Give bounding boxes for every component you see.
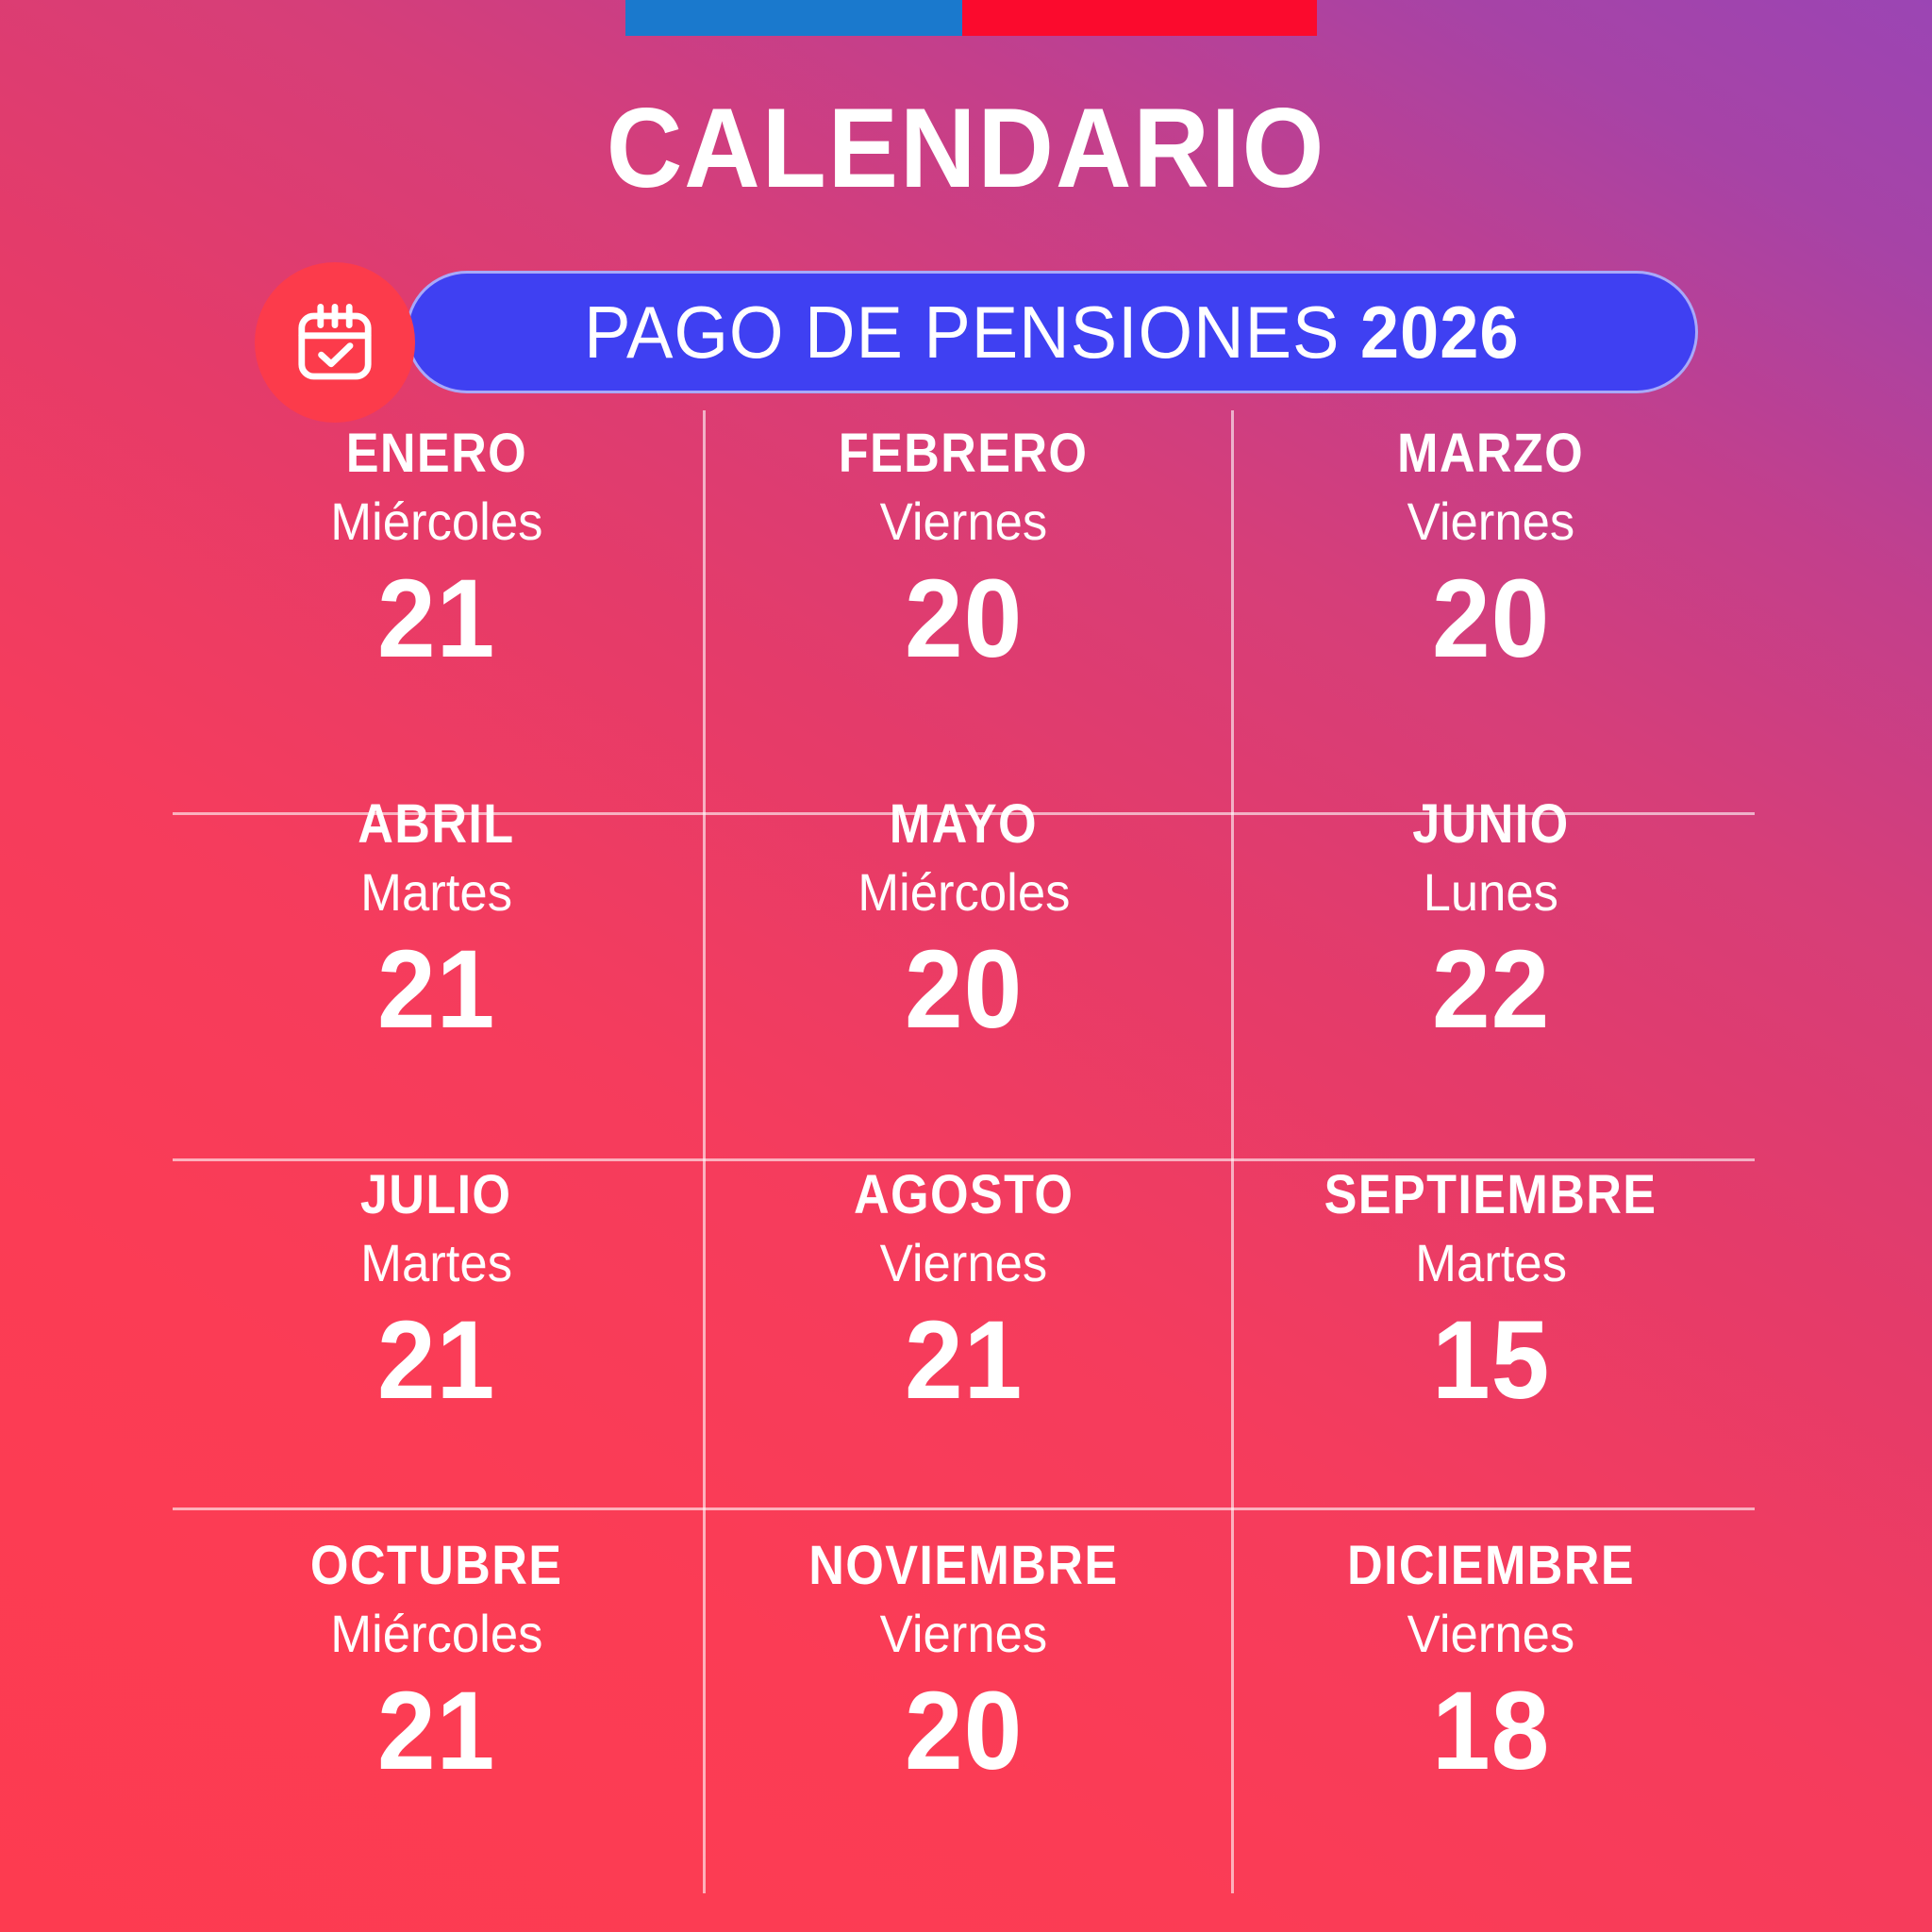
month-name: JUNIO xyxy=(1412,796,1569,854)
month-day-number: 21 xyxy=(377,934,495,1045)
month-name: OCTUBRE xyxy=(310,1538,563,1595)
month-day-number: 21 xyxy=(377,563,495,675)
calendar-infographic: CALENDARIO PAGO DE PENSIONES 2026 xyxy=(0,0,1932,1932)
month-day-number: 18 xyxy=(1432,1675,1550,1787)
subtitle-label: PAGO DE PENSIONES xyxy=(584,291,1340,374)
month-name: MAYO xyxy=(890,796,1038,854)
month-day-number: 20 xyxy=(905,563,1023,675)
months-grid: ENERO Miércoles 21 FEBRERO Viernes 20 MA… xyxy=(173,410,1755,1893)
month-name: ENERO xyxy=(345,425,526,483)
month-name: DICIEMBRE xyxy=(1347,1538,1635,1595)
month-name: NOVIEMBRE xyxy=(808,1538,1118,1595)
month-weekday: Miércoles xyxy=(330,494,542,550)
month-name: MARZO xyxy=(1397,425,1584,483)
month-day-number: 15 xyxy=(1432,1305,1550,1416)
month-weekday: Lunes xyxy=(1424,865,1558,921)
month-weekday: Miércoles xyxy=(330,1607,542,1662)
flag-top-bar xyxy=(625,0,1317,36)
month-name: SEPTIEMBRE xyxy=(1324,1167,1657,1224)
month-cell: MAYO Miércoles 20 xyxy=(700,781,1227,1152)
month-name: JULIO xyxy=(360,1167,511,1224)
month-weekday: Martes xyxy=(1415,1236,1567,1291)
subtitle-text: PAGO DE PENSIONES 2026 xyxy=(584,290,1519,375)
month-cell: ABRIL Martes 21 xyxy=(173,781,700,1152)
month-cell: SEPTIEMBRE Martes 15 xyxy=(1227,1152,1755,1523)
month-name: ABRIL xyxy=(358,796,514,854)
month-day-number: 21 xyxy=(377,1305,495,1416)
flag-red-segment xyxy=(962,0,1317,36)
month-day-number: 21 xyxy=(905,1305,1023,1416)
month-weekday: Martes xyxy=(360,865,512,921)
month-weekday: Martes xyxy=(360,1236,512,1291)
month-day-number: 20 xyxy=(905,934,1023,1045)
month-name: AGOSTO xyxy=(854,1167,1074,1224)
month-cell: MARZO Viernes 20 xyxy=(1227,410,1755,781)
month-cell: JUNIO Lunes 22 xyxy=(1227,781,1755,1152)
page-title: CALENDARIO xyxy=(68,92,1865,205)
calendar-check-icon xyxy=(290,297,380,388)
month-name: FEBRERO xyxy=(839,425,1089,483)
month-cell: DICIEMBRE Viernes 18 xyxy=(1227,1523,1755,1893)
calendar-check-icon-circle xyxy=(255,262,415,423)
month-day-number: 20 xyxy=(1432,563,1550,675)
month-day-number: 21 xyxy=(377,1675,495,1787)
month-day-number: 22 xyxy=(1432,934,1550,1045)
month-weekday: Viernes xyxy=(1407,1607,1575,1662)
flag-blue-segment xyxy=(625,0,962,36)
month-cell: JULIO Martes 21 xyxy=(173,1152,700,1523)
month-day-number: 20 xyxy=(905,1675,1023,1787)
month-cell: FEBRERO Viernes 20 xyxy=(700,410,1227,781)
month-weekday: Viernes xyxy=(1407,494,1575,550)
month-cell: ENERO Miércoles 21 xyxy=(173,410,700,781)
month-weekday: Viernes xyxy=(880,494,1048,550)
subtitle-year: 2026 xyxy=(1360,291,1520,374)
subtitle-pill: PAGO DE PENSIONES 2026 xyxy=(406,271,1698,393)
month-cell: AGOSTO Viernes 21 xyxy=(700,1152,1227,1523)
month-weekday: Viernes xyxy=(880,1236,1048,1291)
month-cell: NOVIEMBRE Viernes 20 xyxy=(700,1523,1227,1893)
month-weekday: Miércoles xyxy=(858,865,1070,921)
subtitle-badge: PAGO DE PENSIONES 2026 xyxy=(255,262,1707,413)
month-cell: OCTUBRE Miércoles 21 xyxy=(173,1523,700,1893)
month-weekday: Viernes xyxy=(880,1607,1048,1662)
